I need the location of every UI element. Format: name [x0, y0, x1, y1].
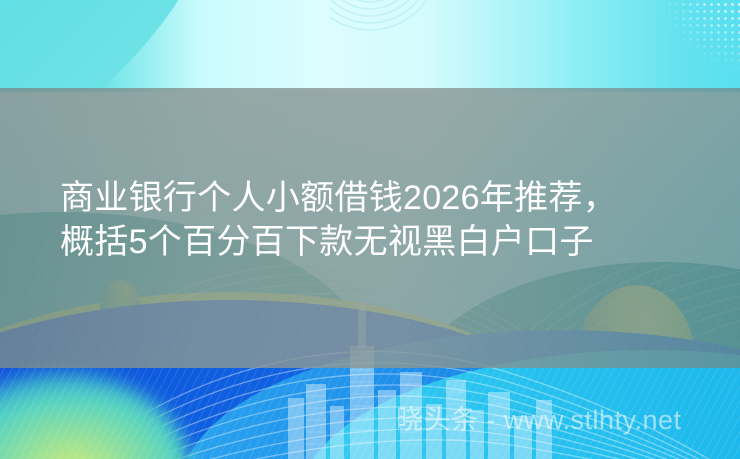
article-cover-banner: 商业银行个人小额借钱2026年推荐， 概括5个百分百下款无视黑白户口子 晓头条 … [0, 0, 740, 459]
concentric-arc-rings-icon [330, 0, 480, 46]
site-watermark: 晓头条 - www.stlhty.net [396, 404, 682, 436]
headline-title: 商业银行个人小额借钱2026年推荐， 概括5个百分百下款无视黑白户口子 [60, 176, 700, 264]
dot-grid-pattern [624, 0, 740, 92]
top-light-band [0, 0, 740, 92]
cyan-curve-shape [0, 0, 250, 92]
